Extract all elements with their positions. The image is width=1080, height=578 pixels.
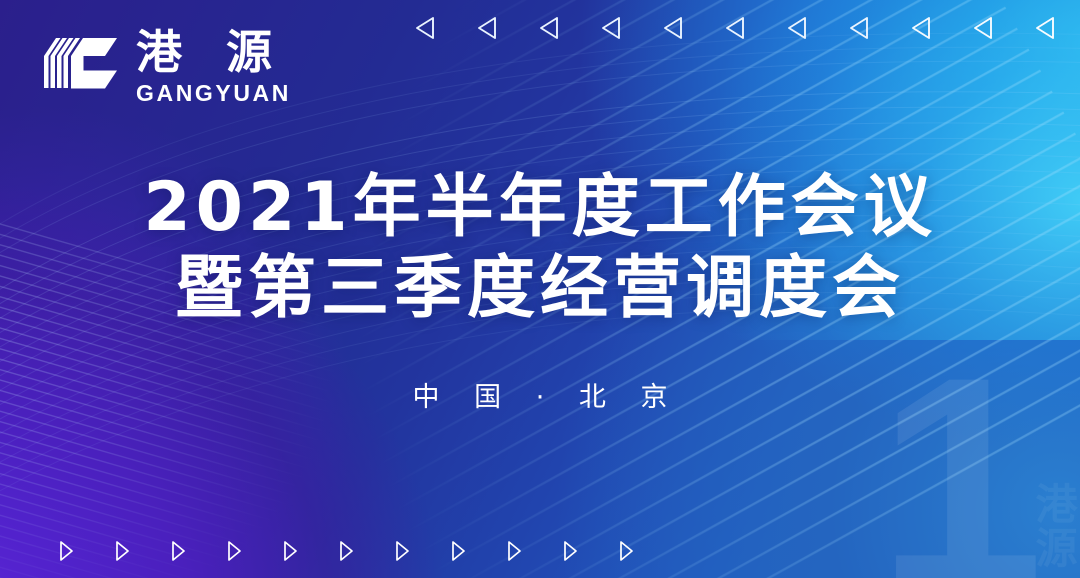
conference-poster: 1 港源	[0, 0, 1080, 578]
gangyuan-g-mark-icon	[36, 30, 122, 102]
background-cyan-accent	[720, 0, 1080, 340]
brand-name-en: GANGYUAN	[136, 82, 291, 105]
brand-logo-text: 港 源 GANGYUAN	[136, 29, 291, 105]
brand-logo: 港 源 GANGYUAN	[36, 27, 291, 105]
brand-name-cn: 港 源	[136, 29, 286, 75]
